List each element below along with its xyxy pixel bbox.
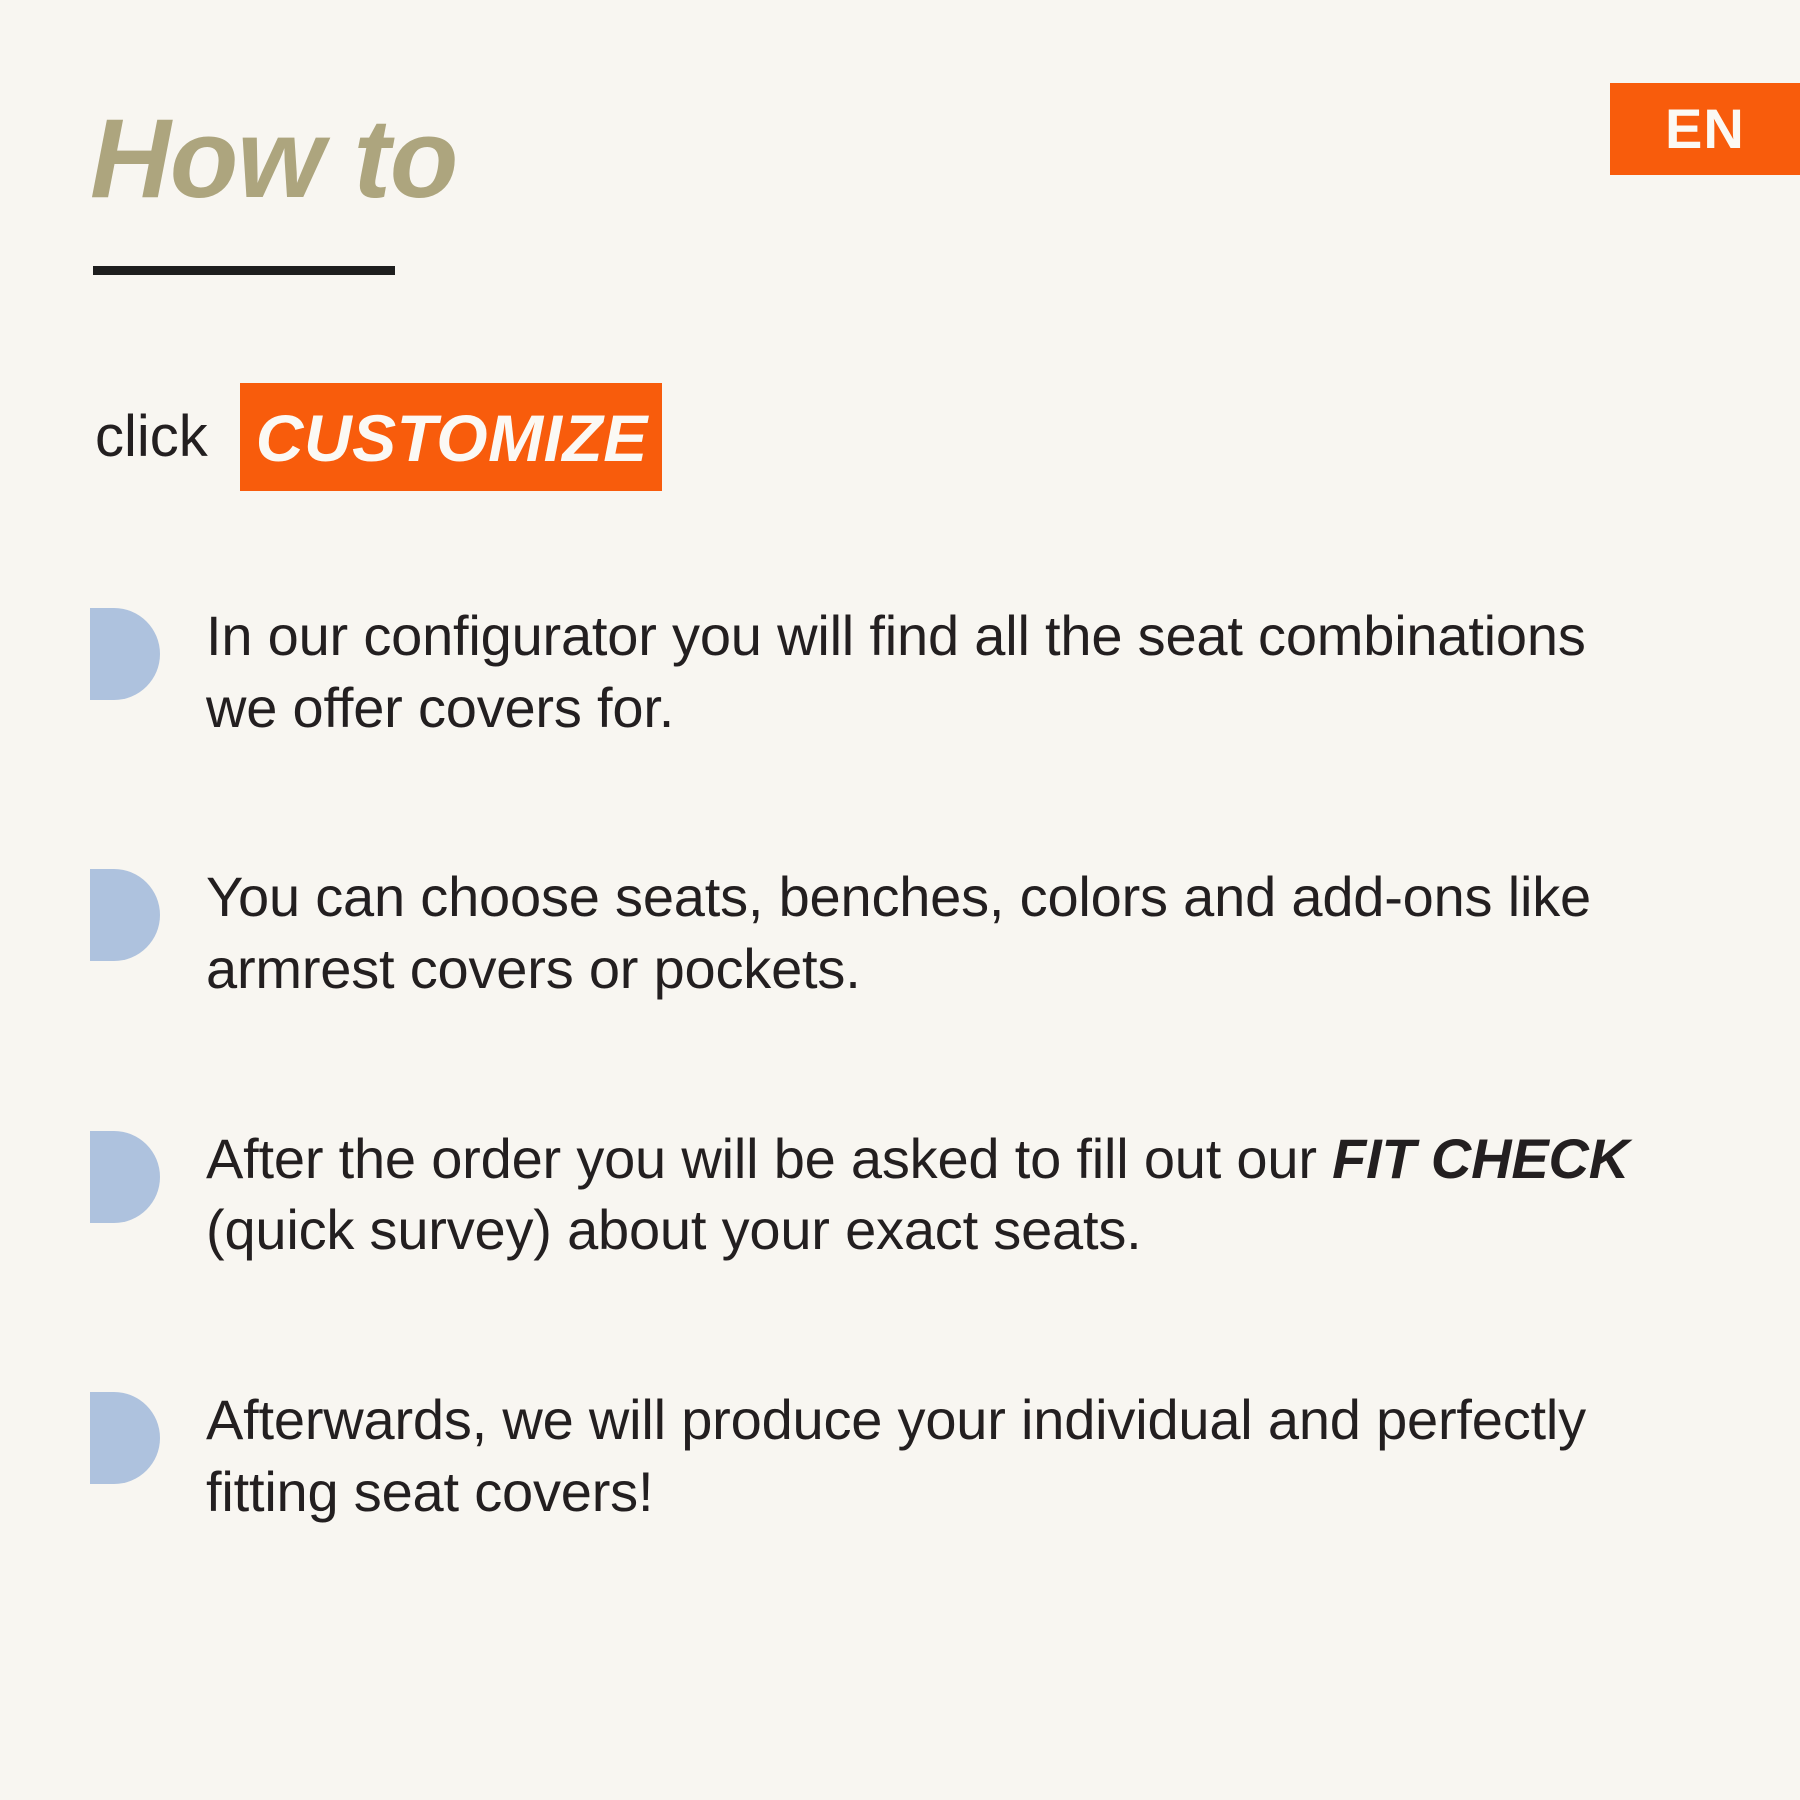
cta-prefix-label: click — [95, 408, 240, 466]
list-item-text: You can choose seats, benches, colors an… — [206, 861, 1646, 1004]
list-item: After the order you will be asked to fil… — [90, 1123, 1670, 1266]
d-shape-bullet-icon — [90, 869, 160, 961]
list-item: Afterwards, we will produce your individ… — [90, 1384, 1670, 1527]
list-item-text-before: After the order you will be asked to fil… — [206, 1127, 1332, 1190]
list-item-text-after: (quick survey) about your exact seats. — [206, 1198, 1142, 1261]
customize-button-label[interactable]: CUSTOMIZE — [240, 383, 662, 491]
title-underline-rule — [93, 266, 395, 275]
cta-instruction: click CUSTOMIZE — [95, 383, 662, 491]
language-badge-label: EN — [1665, 101, 1745, 157]
page-title: How to — [90, 100, 457, 218]
list-item-text: After the order you will be asked to fil… — [206, 1123, 1646, 1266]
d-shape-bullet-icon — [90, 1392, 160, 1484]
how-to-infographic: EN How to click CUSTOMIZE In our configu… — [0, 0, 1800, 1800]
language-badge[interactable]: EN — [1610, 83, 1800, 175]
list-item-text: Afterwards, we will produce your individ… — [206, 1384, 1646, 1527]
fit-check-emphasis: FIT CHECK — [1332, 1127, 1629, 1190]
steps-list: In our configurator you will find all th… — [90, 600, 1670, 1527]
d-shape-bullet-icon — [90, 608, 160, 700]
d-shape-bullet-icon — [90, 1131, 160, 1223]
list-item: In our configurator you will find all th… — [90, 600, 1670, 743]
list-item: You can choose seats, benches, colors an… — [90, 861, 1670, 1004]
list-item-text: In our configurator you will find all th… — [206, 600, 1646, 743]
